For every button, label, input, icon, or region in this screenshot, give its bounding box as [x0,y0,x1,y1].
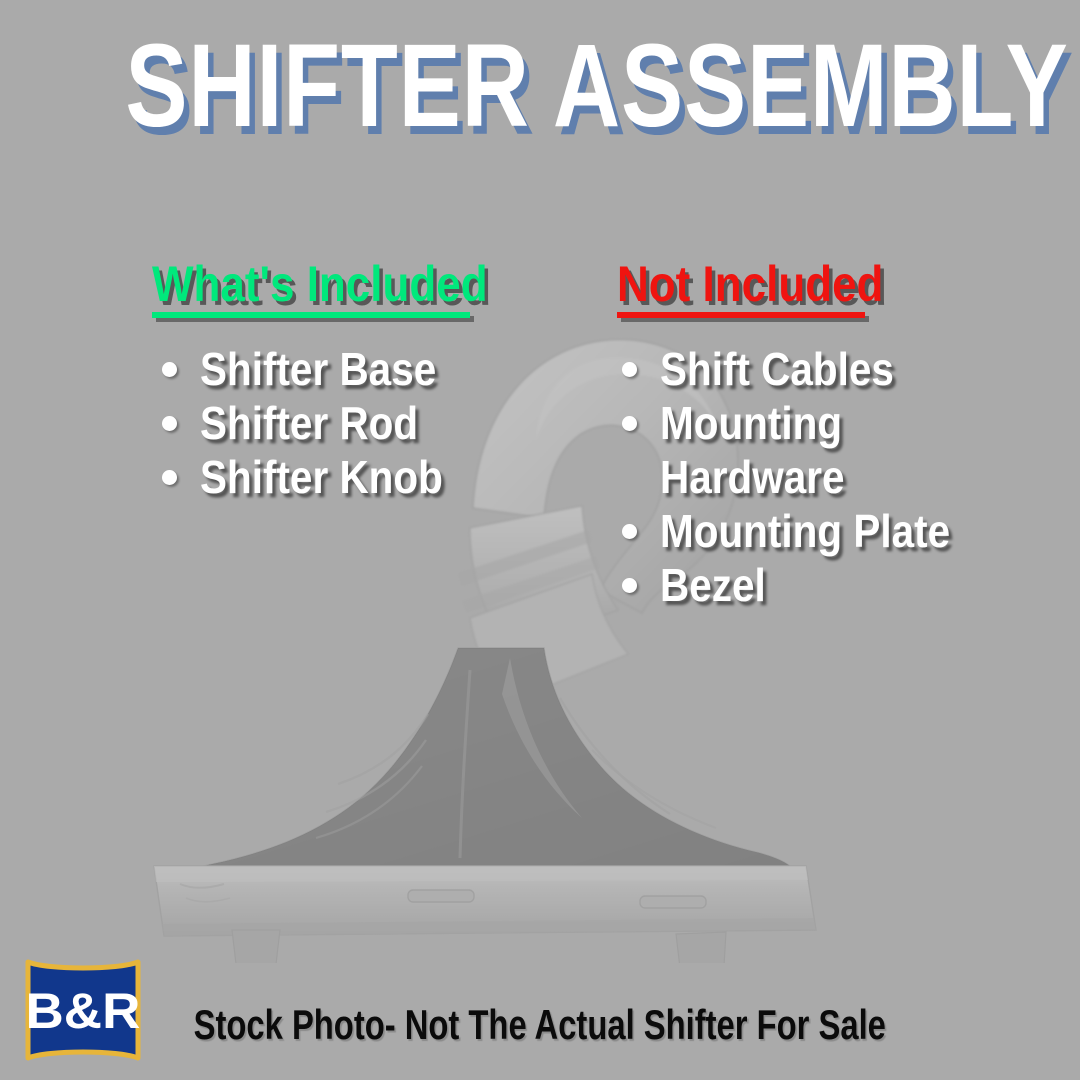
page-title-text: SHIFTER ASSEMBLY [125,26,1068,146]
list-item-label: Shift Cables [660,342,894,396]
bullet-icon [162,470,177,485]
bullet-icon [622,362,637,377]
list-item-continuation: Hardware [612,450,990,504]
list-item-label: Hardware [660,450,844,504]
stock-photo-disclaimer: Stock Photo- Not The Actual Shifter For … [0,1002,1080,1048]
product-graphic-canvas: SHIFTER ASSEMBLY [0,0,1080,1080]
list-item-label: Mounting Plate [660,504,950,558]
stock-photo-disclaimer-text: Stock Photo- Not The Actual Shifter For … [194,1002,886,1048]
bullet-icon [622,416,637,431]
not-included-list: Shift Cables Mounting Hardware Mounting … [612,342,990,612]
bullet-icon [162,416,177,431]
list-item: Mounting Plate [612,504,990,558]
list-item-label: Bezel [660,558,766,612]
list-item-label: Shifter Base [200,342,436,396]
list-item: Shifter Knob [152,450,476,504]
list-item: Bezel [612,558,990,612]
page-title: SHIFTER ASSEMBLY [0,26,1080,146]
list-item-label: Mounting [660,396,842,450]
not-included-heading-underline [617,312,865,318]
bullet-icon [622,578,637,593]
list-item-label: Shifter Rod [200,396,418,450]
included-list: Shifter Base Shifter Rod Shifter Knob [152,342,476,504]
included-heading: What's Included [152,258,533,322]
not-included-heading: Not Included [617,258,920,322]
list-item: Mounting [612,396,990,450]
list-item: Shifter Base [152,342,476,396]
bullet-icon [622,524,637,539]
included-heading-underline [152,312,470,318]
included-heading-text: What's Included [152,258,488,310]
not-included-heading-text: Not Included [617,258,883,310]
list-item-label: Shifter Knob [200,450,443,504]
list-item: Shifter Rod [152,396,476,450]
bullet-icon [162,362,177,377]
list-item: Shift Cables [612,342,990,396]
